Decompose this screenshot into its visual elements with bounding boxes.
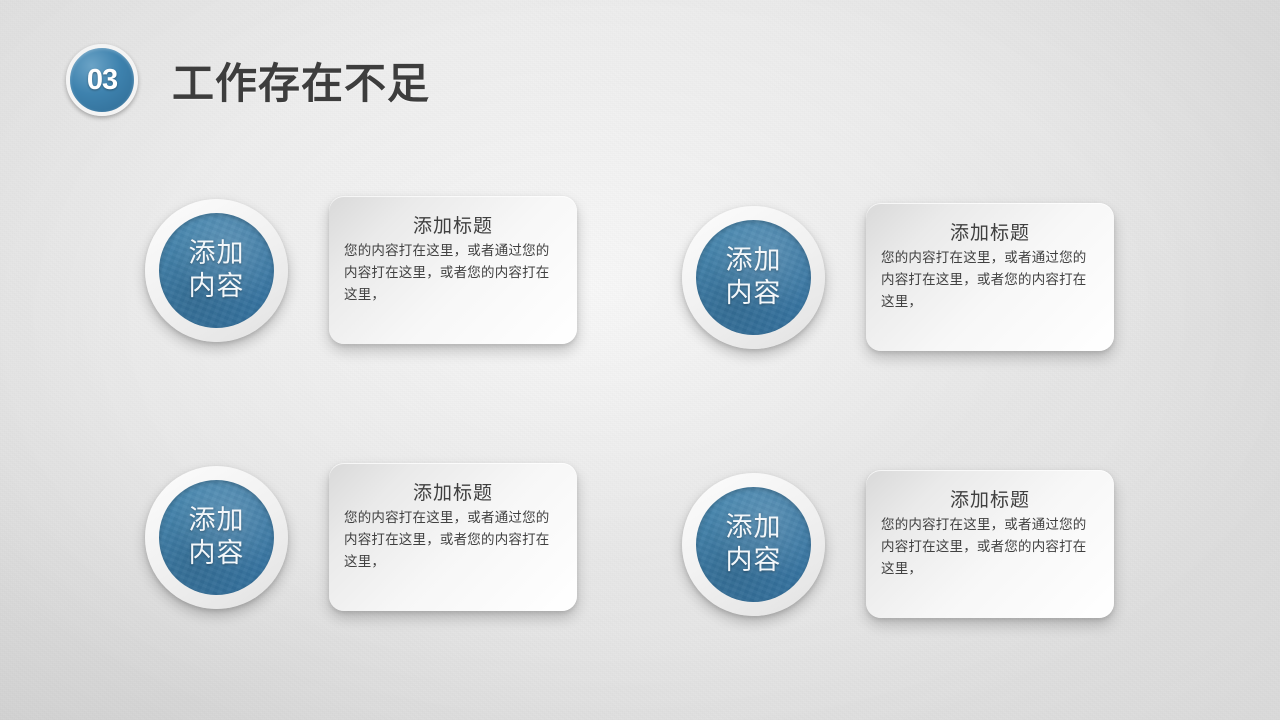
- bubble-inner-circle: 添加 内容: [159, 213, 274, 328]
- bubble-label-line1: 添加: [726, 512, 782, 543]
- content-bubble[interactable]: 添加 内容: [682, 206, 840, 349]
- bubble-inner-circle: 添加 内容: [696, 220, 811, 335]
- slide-canvas: 03 工作存在不足 添加 内容 添加标题 您的内容打在这里，或者通过您的内容打在…: [0, 0, 1280, 720]
- card-body: 您的内容打在这里，或者通过您的内容打在这里，或者您的内容打在这里，: [881, 247, 1099, 313]
- section-number-text: 03: [87, 64, 117, 97]
- content-bubble[interactable]: 添加 内容: [145, 199, 303, 342]
- content-item[interactable]: 添加 内容 添加标题 您的内容打在这里，或者通过您的内容打在这里，或者您的内容打…: [145, 463, 577, 611]
- bubble-label: 添加 内容: [189, 504, 245, 570]
- bubble-label-line2: 内容: [189, 271, 245, 302]
- page-title: 工作存在不足: [172, 50, 430, 111]
- card-title: 添加标题: [344, 214, 562, 238]
- card-body: 您的内容打在这里，或者通过您的内容打在这里，或者您的内容打在这里，: [881, 514, 1099, 580]
- bubble-inner-circle: 添加 内容: [696, 487, 811, 602]
- content-bubble[interactable]: 添加 内容: [682, 473, 840, 616]
- card-title: 添加标题: [881, 221, 1099, 245]
- content-item[interactable]: 添加 内容 添加标题 您的内容打在这里，或者通过您的内容打在这里，或者您的内容打…: [682, 470, 1114, 618]
- section-number-badge: 03: [66, 44, 138, 116]
- slide-header: 03 工作存在不足: [66, 44, 430, 116]
- card-body: 您的内容打在这里，或者通过您的内容打在这里，或者您的内容打在这里，: [344, 507, 562, 573]
- bubble-label-line1: 添加: [189, 238, 245, 269]
- bubble-label-line2: 内容: [726, 545, 782, 576]
- content-card[interactable]: 添加标题 您的内容打在这里，或者通过您的内容打在这里，或者您的内容打在这里，: [329, 463, 577, 611]
- card-title: 添加标题: [344, 481, 562, 505]
- bubble-label-line2: 内容: [726, 278, 782, 309]
- content-item[interactable]: 添加 内容 添加标题 您的内容打在这里，或者通过您的内容打在这里，或者您的内容打…: [682, 203, 1114, 351]
- bubble-label: 添加 内容: [726, 511, 782, 577]
- bubble-label: 添加 内容: [189, 237, 245, 303]
- content-item[interactable]: 添加 内容 添加标题 您的内容打在这里，或者通过您的内容打在这里，或者您的内容打…: [145, 196, 577, 344]
- bubble-label-line1: 添加: [189, 505, 245, 536]
- card-title: 添加标题: [881, 488, 1099, 512]
- bubble-inner-circle: 添加 内容: [159, 480, 274, 595]
- content-bubble[interactable]: 添加 内容: [145, 466, 303, 609]
- bubble-label: 添加 内容: [726, 244, 782, 310]
- card-body: 您的内容打在这里，或者通过您的内容打在这里，或者您的内容打在这里，: [344, 240, 562, 306]
- bubble-label-line1: 添加: [726, 245, 782, 276]
- content-card[interactable]: 添加标题 您的内容打在这里，或者通过您的内容打在这里，或者您的内容打在这里，: [866, 203, 1114, 351]
- content-card[interactable]: 添加标题 您的内容打在这里，或者通过您的内容打在这里，或者您的内容打在这里，: [866, 470, 1114, 618]
- content-card[interactable]: 添加标题 您的内容打在这里，或者通过您的内容打在这里，或者您的内容打在这里，: [329, 196, 577, 344]
- bubble-label-line2: 内容: [189, 538, 245, 569]
